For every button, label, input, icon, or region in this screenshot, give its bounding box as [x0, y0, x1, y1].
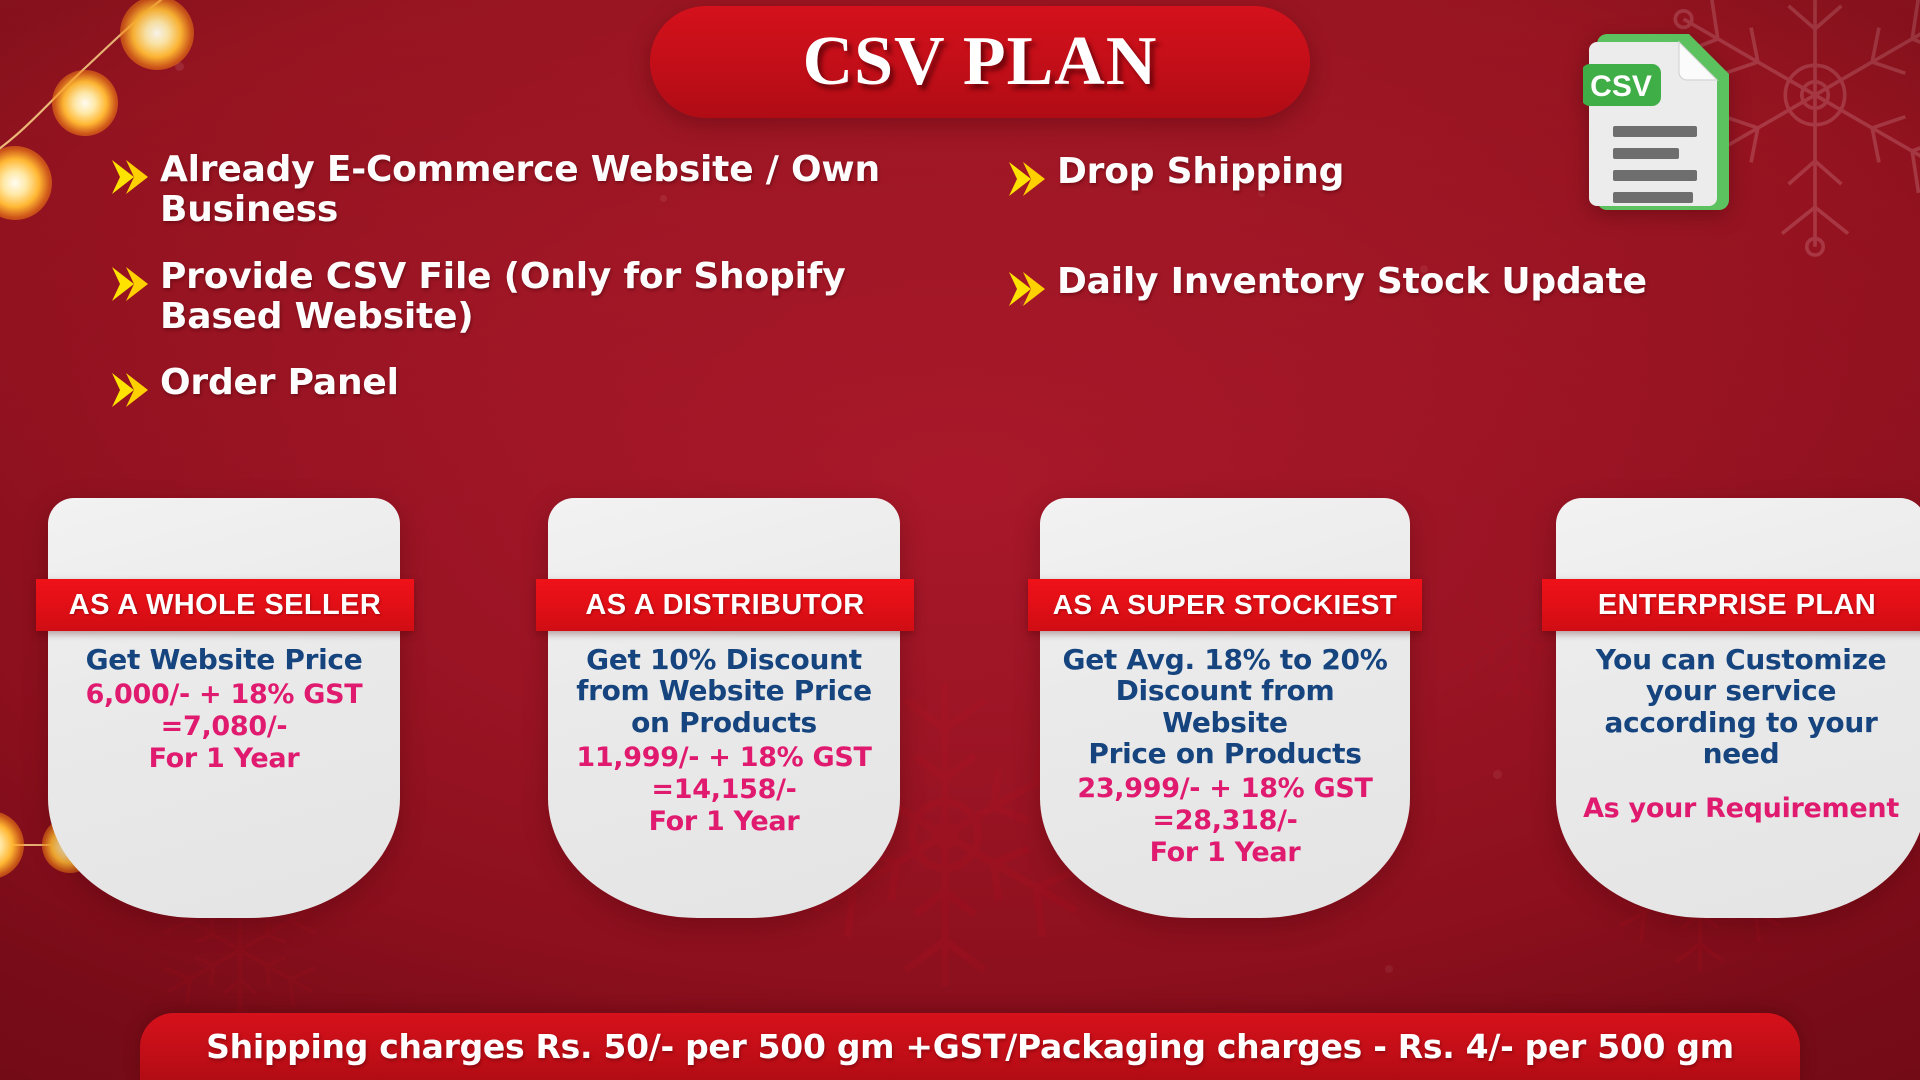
plan-banner-label: AS A DISTRIBUTOR [585, 589, 864, 622]
feature-label: Order Panel [160, 363, 399, 403]
plan-banner-label: AS A WHOLE SELLER [69, 589, 381, 622]
double-chevron-right-icon [108, 154, 154, 200]
plan-banner-label: ENTERPRISE PLAN [1598, 589, 1876, 622]
double-chevron-right-icon [108, 367, 154, 413]
feature-label: Already E-Commerce Website / Own Busines… [160, 150, 898, 231]
feature-label: Provide CSV File (Only for Shopify Based… [160, 257, 898, 338]
plan-headline: Get 10% Discount from Website Price on P… [562, 644, 886, 738]
plan-banner-label: AS A SUPER STOCKIEST [1053, 589, 1398, 621]
plan-price-note: As your Requirement [1570, 793, 1912, 825]
footer-charges-bar: Shipping charges Rs. 50/- per 500 gm +GS… [140, 1013, 1800, 1080]
csv-icon-label: CSV [1590, 70, 1652, 103]
feature-label: Drop Shipping [1057, 152, 1344, 192]
plan-card-enterprise[interactable]: ENTERPRISE PLAN You can Customize your s… [1556, 498, 1920, 918]
feature-list-left: Already E-Commerce Website / Own Busines… [108, 150, 898, 439]
plan-headline: You can Customize your service according… [1570, 644, 1912, 769]
feature-list-right: Drop Shipping Daily Inventory Stock Upda… [1005, 152, 1765, 372]
double-chevron-right-icon [1005, 156, 1051, 202]
plan-body: You can Customize your service according… [1570, 644, 1912, 825]
plan-card-whole-seller[interactable]: AS A WHOLE SELLER Get Website Price 6,00… [48, 498, 400, 918]
plan-headline: Get Website Price [62, 644, 386, 675]
footer-text: Shipping charges Rs. 50/- per 500 gm +GS… [206, 1027, 1734, 1066]
double-chevron-right-icon [1005, 266, 1051, 312]
feature-item: Drop Shipping [1005, 152, 1765, 202]
feature-label: Daily Inventory Stock Update [1057, 262, 1647, 302]
plan-price: 6,000/- + 18% GST =7,080/- For 1 Year [62, 679, 386, 775]
plan-headline: Get Avg. 18% to 20% Discount from Websit… [1054, 644, 1396, 769]
poster-canvas: CSV PLAN CSV Already E-Commerce Website … [0, 0, 1920, 1080]
feature-item: Daily Inventory Stock Update [1005, 262, 1765, 312]
plan-banner: AS A WHOLE SELLER [36, 579, 414, 631]
plan-card-distributor[interactable]: AS A DISTRIBUTOR Get 10% Discount from W… [548, 498, 900, 918]
plan-card-super-stockiest[interactable]: AS A SUPER STOCKIEST Get Avg. 18% to 20%… [1040, 498, 1410, 918]
plan-body: Get Avg. 18% to 20% Discount from Websit… [1054, 644, 1396, 869]
plan-body: Get 10% Discount from Website Price on P… [562, 644, 886, 838]
feature-item: Already E-Commerce Website / Own Busines… [108, 150, 898, 231]
feature-item: Provide CSV File (Only for Shopify Based… [108, 257, 898, 338]
page-title: CSV PLAN [803, 22, 1158, 102]
plan-body: Get Website Price 6,000/- + 18% GST =7,0… [62, 644, 386, 775]
plan-banner: ENTERPRISE PLAN [1542, 579, 1920, 631]
plan-price: 23,999/- + 18% GST =28,318/- For 1 Year [1054, 773, 1396, 869]
page-title-banner: CSV PLAN [650, 6, 1310, 118]
plan-price: 11,999/- + 18% GST =14,158/- For 1 Year [562, 742, 886, 838]
plan-banner: AS A DISTRIBUTOR [536, 579, 914, 631]
double-chevron-right-icon [108, 261, 154, 307]
feature-item: Order Panel [108, 363, 898, 413]
plan-banner: AS A SUPER STOCKIEST [1028, 579, 1422, 631]
